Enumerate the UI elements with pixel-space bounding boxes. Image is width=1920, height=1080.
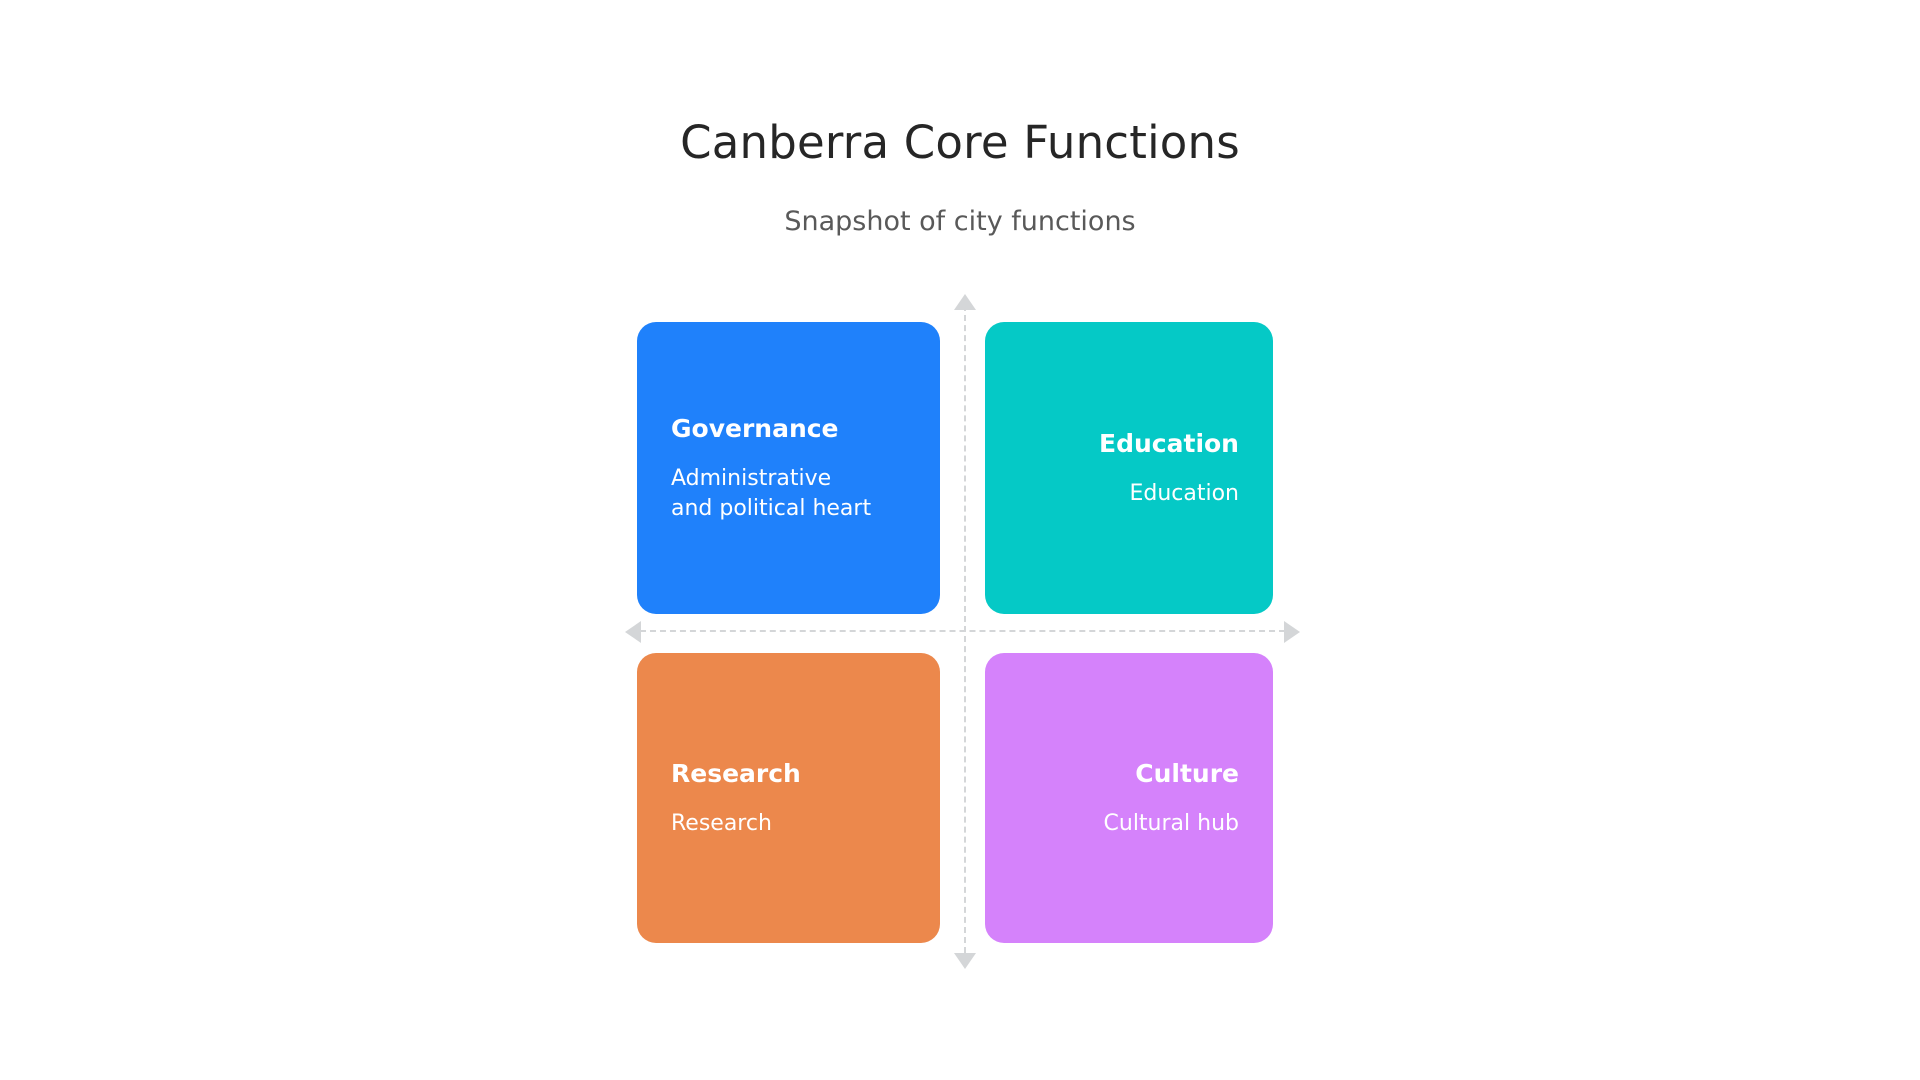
quadrant-chart-canvas: Canberra Core Functions Snapshot of city… bbox=[0, 0, 1920, 1080]
arrow-down-icon bbox=[954, 953, 976, 969]
quadrant-description: Research bbox=[671, 809, 772, 839]
quadrant-description: Cultural hub bbox=[1104, 809, 1239, 839]
quadrant-label: Governance bbox=[671, 413, 839, 444]
arrow-right-icon bbox=[1284, 621, 1300, 643]
quadrant-description: Administrative and political heart bbox=[671, 464, 876, 523]
quadrant-card-culture[interactable]: Culture Cultural hub bbox=[985, 653, 1273, 943]
arrow-left-icon bbox=[625, 621, 641, 643]
vertical-axis-line bbox=[964, 305, 966, 953]
horizontal-axis-line bbox=[640, 630, 1285, 632]
page-title: Canberra Core Functions bbox=[0, 118, 1920, 168]
quadrant-card-research[interactable]: Research Research bbox=[637, 653, 940, 943]
quadrant-card-education[interactable]: Education Education bbox=[985, 322, 1273, 614]
quadrant-card-governance[interactable]: Governance Administrative and political … bbox=[637, 322, 940, 614]
quadrant-label: Education bbox=[1099, 428, 1239, 459]
quadrant-label: Culture bbox=[1135, 758, 1239, 789]
quadrant-label: Research bbox=[671, 758, 801, 789]
quadrant-description: Education bbox=[1129, 479, 1239, 509]
page-subtitle: Snapshot of city functions bbox=[0, 207, 1920, 237]
arrow-up-icon bbox=[954, 294, 976, 310]
